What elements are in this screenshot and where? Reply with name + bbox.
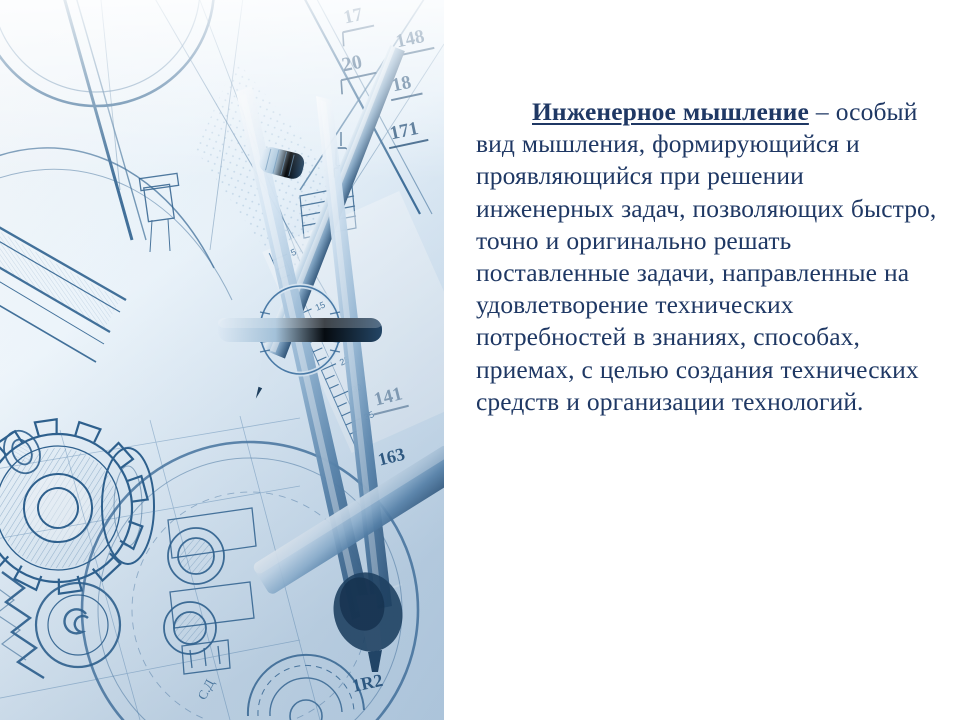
term-dash: – bbox=[809, 97, 836, 126]
definition-text-block: Инженерное мышление – особый вид мышлени… bbox=[476, 96, 938, 418]
slide: 17 148 20 bbox=[0, 0, 960, 720]
definition-paragraph: Инженерное мышление – особый вид мышлени… bbox=[476, 96, 938, 418]
blueprint-photo: 17 148 20 bbox=[0, 0, 444, 720]
definition-body: особый вид мышления, формирующийся и про… bbox=[476, 97, 936, 416]
term-heading: Инженерное мышление bbox=[532, 97, 809, 126]
